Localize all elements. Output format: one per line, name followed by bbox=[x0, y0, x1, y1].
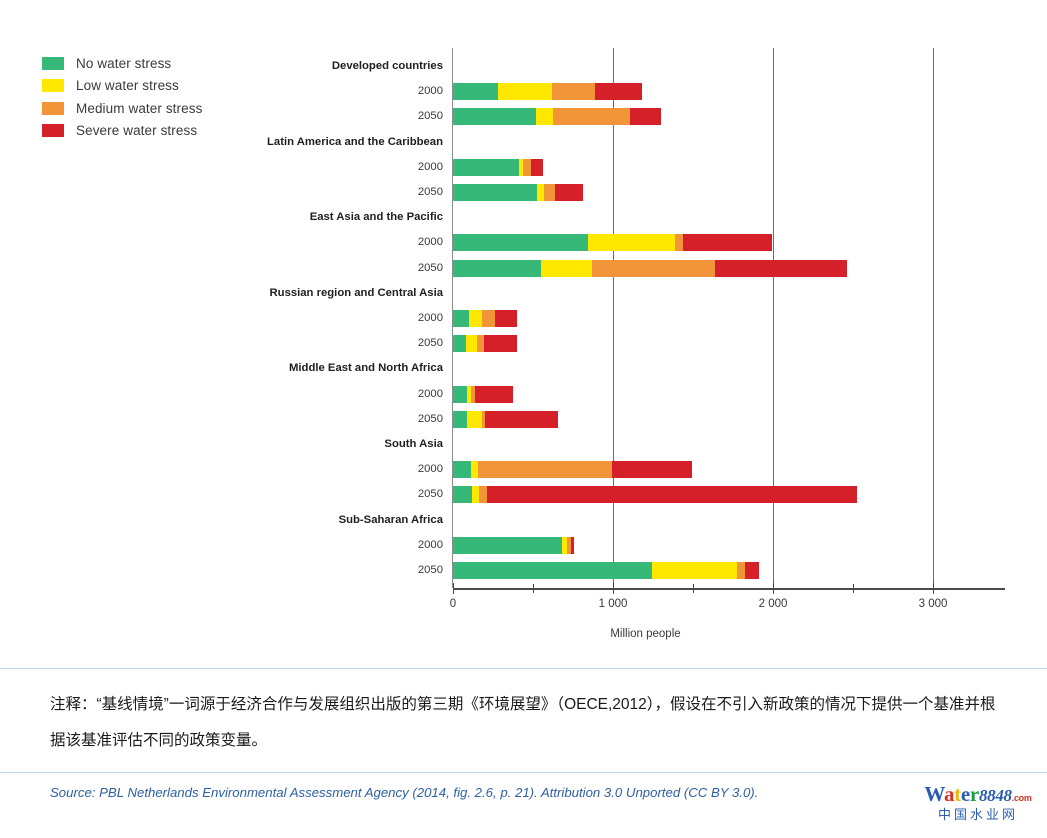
x-axis-tick-label: 3 000 bbox=[919, 598, 948, 610]
group-label: Latin America and the Caribbean bbox=[267, 130, 443, 155]
group-label: South Asia bbox=[384, 432, 443, 457]
watermark-letter-t: t bbox=[954, 782, 961, 806]
year-label: 2000 bbox=[418, 457, 443, 482]
chart-bar-row: 2050 bbox=[0, 482, 1047, 507]
x-axis-minor-tick bbox=[693, 584, 694, 593]
year-label: 2000 bbox=[418, 230, 443, 255]
chart-bar-row: 2000 bbox=[0, 382, 1047, 407]
chart-bar-row: 2000 bbox=[0, 457, 1047, 482]
year-label: 2000 bbox=[418, 79, 443, 104]
source-block: Source: PBL Netherlands Environmental As… bbox=[0, 772, 1047, 838]
stacked-bar bbox=[453, 486, 857, 503]
chart-bar-row: 2050 bbox=[0, 407, 1047, 432]
bar-segment bbox=[453, 411, 467, 428]
bar-segment bbox=[484, 335, 517, 352]
bar-segment bbox=[453, 83, 498, 100]
x-axis-minor-tick bbox=[853, 584, 854, 593]
stacked-bar bbox=[453, 537, 574, 554]
stacked-bar bbox=[453, 562, 759, 579]
bar-segment bbox=[469, 310, 482, 327]
bar-segment bbox=[495, 310, 517, 327]
stacked-bar bbox=[453, 83, 642, 100]
chart-group-row: Middle East and North Africa bbox=[0, 356, 1047, 381]
bar-segment bbox=[555, 184, 582, 201]
stacked-bar bbox=[453, 310, 517, 327]
x-axis-tick bbox=[613, 583, 614, 594]
chart-group-row: Developed countries bbox=[0, 54, 1047, 79]
bar-segment bbox=[595, 83, 641, 100]
chart-group-row: South Asia bbox=[0, 432, 1047, 457]
year-label: 2050 bbox=[418, 558, 443, 583]
x-axis-minor-tick bbox=[533, 584, 534, 593]
year-label: 2000 bbox=[418, 155, 443, 180]
stacked-bar bbox=[453, 159, 543, 176]
bar-segment bbox=[478, 461, 612, 478]
chart-bar-row: 2000 bbox=[0, 155, 1047, 180]
bar-segment bbox=[571, 537, 573, 554]
bar-segment bbox=[552, 83, 595, 100]
bar-segment bbox=[453, 310, 469, 327]
chart-bar-row: 2050 bbox=[0, 256, 1047, 281]
bar-segment bbox=[537, 184, 544, 201]
bar-segment bbox=[453, 461, 471, 478]
x-axis-title: Million people bbox=[0, 628, 1047, 640]
chart-group-row: Latin America and the Caribbean bbox=[0, 130, 1047, 155]
bar-segment bbox=[652, 562, 737, 579]
group-label: Developed countries bbox=[332, 54, 443, 79]
source-text: Source: PBL Netherlands Environmental As… bbox=[50, 785, 758, 800]
bar-segment bbox=[745, 562, 759, 579]
bar-segment bbox=[541, 260, 592, 277]
bar-segment bbox=[453, 108, 536, 125]
chart-bar-row: 2050 bbox=[0, 104, 1047, 129]
bar-segment bbox=[630, 108, 661, 125]
chart-page: No water stressLow water stressMedium wa… bbox=[0, 0, 1047, 838]
stacked-bar bbox=[453, 260, 847, 277]
stacked-bar bbox=[453, 108, 661, 125]
x-axis-tick bbox=[933, 583, 934, 594]
bar-segment bbox=[482, 310, 495, 327]
chart-group-row: Russian region and Central Asia bbox=[0, 281, 1047, 306]
watermark-letter-e: e bbox=[961, 782, 970, 806]
bar-segment bbox=[592, 260, 715, 277]
chart-bar-row: 2000 bbox=[0, 306, 1047, 331]
year-label: 2050 bbox=[418, 256, 443, 281]
bar-segment bbox=[453, 159, 519, 176]
bar-segment bbox=[715, 260, 847, 277]
bar-segment bbox=[453, 184, 537, 201]
year-label: 2000 bbox=[418, 306, 443, 331]
chart-bar-row: 2000 bbox=[0, 230, 1047, 255]
bar-segment bbox=[477, 335, 484, 352]
watermark-brand: Water8848.com bbox=[915, 784, 1041, 805]
stacked-bar bbox=[453, 234, 772, 251]
watermark-number: 8848 bbox=[979, 786, 1012, 805]
stacked-bar bbox=[453, 386, 513, 403]
x-axis-tick bbox=[773, 583, 774, 594]
bar-segment bbox=[453, 486, 472, 503]
year-label: 2000 bbox=[418, 382, 443, 407]
group-label: Russian region and Central Asia bbox=[270, 281, 443, 306]
watermark-logo: Water8848.com 中国水业网 bbox=[915, 784, 1041, 834]
chart-bar-row: 2050 bbox=[0, 558, 1047, 583]
bar-segment bbox=[498, 83, 552, 100]
group-label: Sub-Saharan Africa bbox=[339, 508, 443, 533]
bar-segment bbox=[683, 234, 772, 251]
bar-segment bbox=[467, 411, 482, 428]
watermark-domain: .com bbox=[1012, 793, 1032, 803]
year-label: 2050 bbox=[418, 180, 443, 205]
bar-segment bbox=[523, 159, 531, 176]
bar-segment bbox=[453, 335, 466, 352]
watermark-letter-a: a bbox=[944, 782, 954, 806]
stacked-bar bbox=[453, 411, 558, 428]
bar-segment bbox=[466, 335, 477, 352]
bar-segment bbox=[612, 461, 692, 478]
bar-segment bbox=[453, 234, 588, 251]
bar-segment bbox=[453, 386, 467, 403]
chart-bar-row: 2000 bbox=[0, 533, 1047, 558]
year-label: 2050 bbox=[418, 482, 443, 507]
stacked-bar bbox=[453, 461, 692, 478]
bar-segment bbox=[675, 234, 683, 251]
year-label: 2050 bbox=[418, 331, 443, 356]
watermark-letter-r: r bbox=[970, 782, 979, 806]
group-label: Middle East and North Africa bbox=[289, 356, 443, 381]
bar-segment bbox=[588, 234, 675, 251]
bar-segment bbox=[737, 562, 745, 579]
bar-segment bbox=[536, 108, 553, 125]
year-label: 2050 bbox=[418, 407, 443, 432]
year-label: 2000 bbox=[418, 533, 443, 558]
chart-bar-row: 2050 bbox=[0, 180, 1047, 205]
bar-segment bbox=[544, 184, 555, 201]
note-block: 注释：“基线情境”一词源于经济合作与发展组织出版的第三期《环境展望》（OECE,… bbox=[0, 668, 1047, 772]
x-axis-tick-label: 1 000 bbox=[599, 598, 628, 610]
watermark-chinese: 中国水业网 bbox=[915, 808, 1041, 821]
bar-segment bbox=[475, 386, 513, 403]
x-axis-tick-label: 0 bbox=[450, 598, 456, 610]
stacked-bar bbox=[453, 184, 583, 201]
chart-bar-row: 2050 bbox=[0, 331, 1047, 356]
group-label: East Asia and the Pacific bbox=[310, 205, 443, 230]
year-label: 2050 bbox=[418, 104, 443, 129]
bar-segment bbox=[479, 486, 487, 503]
chart-group-row: East Asia and the Pacific bbox=[0, 205, 1047, 230]
stacked-bar bbox=[453, 335, 517, 352]
note-text: 注释：“基线情境”一词源于经济合作与发展组织出版的第三期《环境展望》（OECE,… bbox=[50, 687, 1005, 759]
bar-segment bbox=[485, 411, 558, 428]
bar-segment bbox=[453, 562, 652, 579]
bar-segment bbox=[553, 108, 630, 125]
bar-segment bbox=[453, 537, 562, 554]
x-axis-tick bbox=[453, 583, 454, 594]
bar-segment bbox=[471, 461, 478, 478]
x-axis-line bbox=[453, 588, 1005, 590]
x-axis-tick-label: 2 000 bbox=[759, 598, 788, 610]
chart-group-row: Sub-Saharan Africa bbox=[0, 508, 1047, 533]
plot-area: Million people 01 0002 0003 000Developed… bbox=[0, 0, 1047, 668]
chart-bar-row: 2000 bbox=[0, 79, 1047, 104]
bar-segment bbox=[487, 486, 857, 503]
bar-segment bbox=[531, 159, 543, 176]
watermark-letter-w: W bbox=[924, 782, 944, 806]
bar-segment bbox=[453, 260, 541, 277]
bar-segment bbox=[472, 486, 479, 503]
chart-panel: No water stressLow water stressMedium wa… bbox=[0, 0, 1047, 668]
